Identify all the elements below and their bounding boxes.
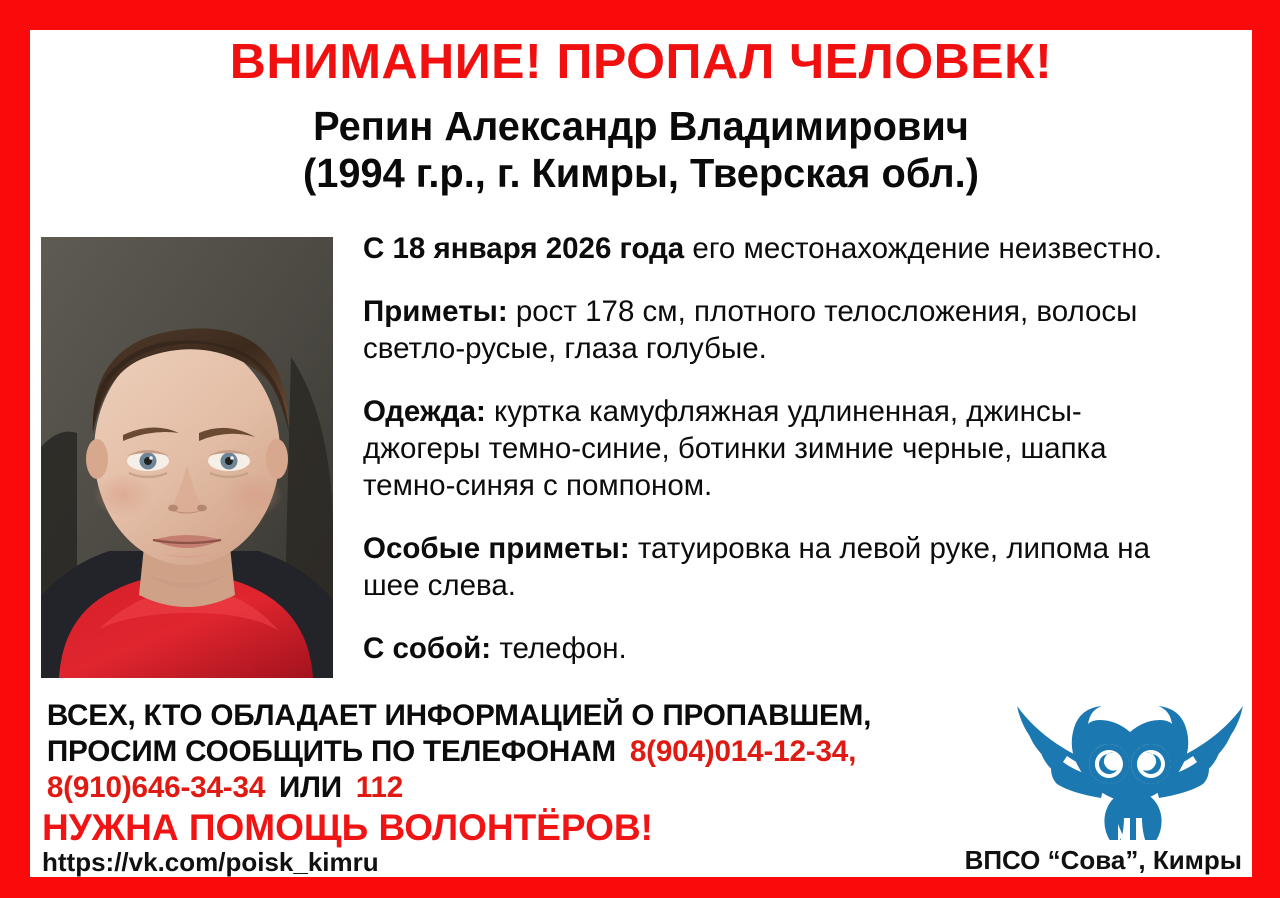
missing-person-poster: ВНИМАНИЕ! ПРОПАЛ ЧЕЛОВЕК! Репин Александ… (0, 0, 1280, 898)
carrying-text: телефон. (491, 632, 627, 665)
poster-sheet: ВНИМАНИЕ! ПРОПАЛ ЧЕЛОВЕК! Репин Александ… (30, 30, 1252, 877)
special-signs-paragraph: Особые приметы: татуировка на левой руке… (363, 530, 1193, 604)
carrying-paragraph: С собой: телефон. (363, 630, 1193, 667)
appeal-block: ВСЕХ, КТО ОБЛАДАЕТ ИНФОРМАЦИЕЙ О ПРОПАВШ… (47, 698, 1007, 806)
special-signs-label: Особые приметы: (363, 532, 630, 565)
clothes-paragraph: Одежда: куртка камуфляжная удлиненная, д… (363, 393, 1193, 504)
carrying-label: С собой: (363, 632, 491, 665)
appeal-line-3: 8(910)646-34-34ИЛИ112 (47, 770, 1007, 806)
signs-paragraph: Приметы: рост 178 см, плотного телосложе… (363, 293, 1193, 367)
missing-since-label: С 18 января 2026 года (363, 232, 684, 265)
signs-label: Приметы: (363, 295, 508, 328)
person-name: Репин Александр Владимирович (48, 103, 1233, 149)
vk-url[interactable]: https://vk.com/poisk_kimru (42, 846, 379, 878)
missing-since-text: его местонахождение неизвестно. (684, 232, 1162, 265)
description-block: С 18 января 2026 года его местонахождени… (363, 230, 1193, 667)
phone-number-secondary[interactable]: 8(910)646-34-34 (47, 771, 265, 804)
volunteers-call: НУЖНА ПОМОЩЬ ВОЛОНТЁРОВ! (42, 806, 653, 850)
emergency-number[interactable]: 112 (356, 771, 403, 804)
phone-number-primary[interactable]: 8(904)014-12-34, (630, 735, 856, 768)
owl-icon (1005, 690, 1255, 840)
person-details: (1994 г.р., г. Кимры, Тверская обл.) (48, 150, 1233, 196)
appeal-line-2-text: ПРОСИМ СООБЩИТЬ ПО ТЕЛЕФОНАМ (47, 735, 616, 768)
person-photo-image (41, 237, 333, 678)
alert-headline: ВНИМАНИЕ! ПРОПАЛ ЧЕЛОВЕК! (18, 34, 1264, 90)
appeal-line-1: ВСЕХ, КТО ОБЛАДАЕТ ИНФОРМАЦИЕЙ О ПРОПАВШ… (47, 698, 1007, 734)
missing-since-paragraph: С 18 января 2026 года его местонахождени… (363, 230, 1193, 267)
owl-logo (1005, 690, 1255, 840)
or-label: ИЛИ (279, 771, 342, 804)
appeal-line-2: ПРОСИМ СООБЩИТЬ ПО ТЕЛЕФОНАМ8(904)014-12… (47, 734, 1007, 770)
clothes-label: Одежда: (363, 395, 486, 428)
person-photo (41, 237, 333, 678)
organization-name: ВПСО “Сова”, Кимры (965, 844, 1242, 876)
